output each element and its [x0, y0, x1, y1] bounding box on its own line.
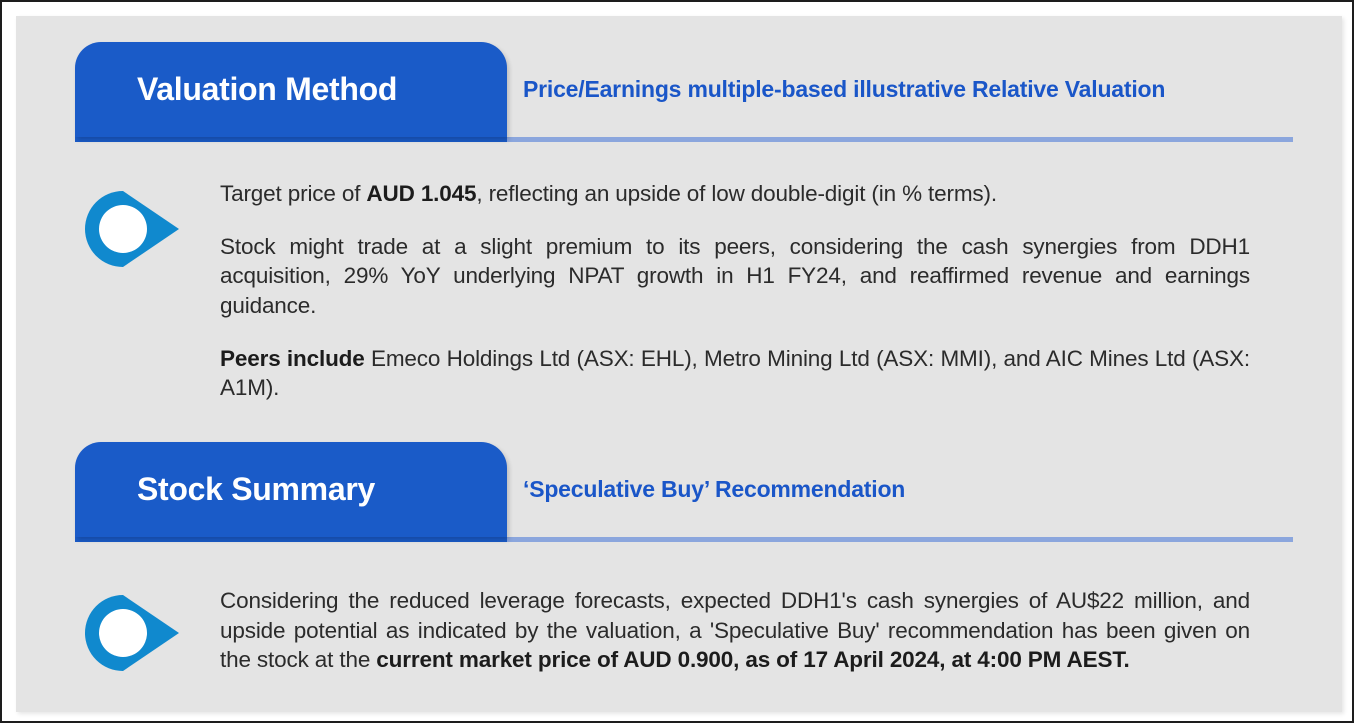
run-text-bold: Peers include	[220, 346, 365, 371]
run-text: Emeco Holdings Ltd (ASX: EHL), Metro Min…	[220, 346, 1250, 401]
paragraph-peers: Peers include Emeco Holdings Ltd (ASX: E…	[220, 344, 1250, 403]
tab-valuation-method[interactable]: Valuation Method	[75, 42, 507, 137]
body-text-stock-summary: Considering the reduced leverage forecas…	[220, 586, 1250, 675]
subtitle-stock-summary: ‘Speculative Buy’ Recommendation	[523, 442, 905, 537]
run-text-bold: current market price of AUD 0.900, as of…	[376, 647, 1129, 672]
section-header-valuation-method: Valuation Method Price/Earnings multiple…	[75, 42, 1293, 154]
run-text-bold: AUD 1.045	[366, 181, 476, 206]
content-card: Valuation Method Price/Earnings multiple…	[16, 16, 1342, 712]
slide-frame: Valuation Method Price/Earnings multiple…	[0, 0, 1354, 723]
run-text: Target price of	[220, 181, 366, 206]
paragraph-premium-rationale: Stock might trade at a slight premium to…	[220, 232, 1250, 321]
run-text: Stock might trade at a slight premium to…	[220, 234, 1250, 318]
paragraph-target-price: Target price of AUD 1.045, reflecting an…	[220, 179, 1250, 209]
paragraph-recommendation: Considering the reduced leverage forecas…	[220, 586, 1250, 675]
pin-circle-icon	[84, 190, 182, 268]
run-text: , reflecting an upside of low double-dig…	[476, 181, 997, 206]
pin-circle-icon	[84, 594, 182, 672]
tab-label-valuation-method: Valuation Method	[137, 71, 397, 108]
tab-stock-summary[interactable]: Stock Summary	[75, 442, 507, 537]
subtitle-valuation-method: Price/Earnings multiple-based illustrati…	[523, 42, 1165, 137]
section-header-stock-summary: Stock Summary ‘Speculative Buy’ Recommen…	[75, 442, 1293, 554]
header-underline-accent	[75, 537, 507, 542]
tab-label-stock-summary: Stock Summary	[137, 471, 375, 508]
header-underline-accent	[75, 137, 507, 142]
body-text-valuation-method: Target price of AUD 1.045, reflecting an…	[220, 179, 1250, 403]
